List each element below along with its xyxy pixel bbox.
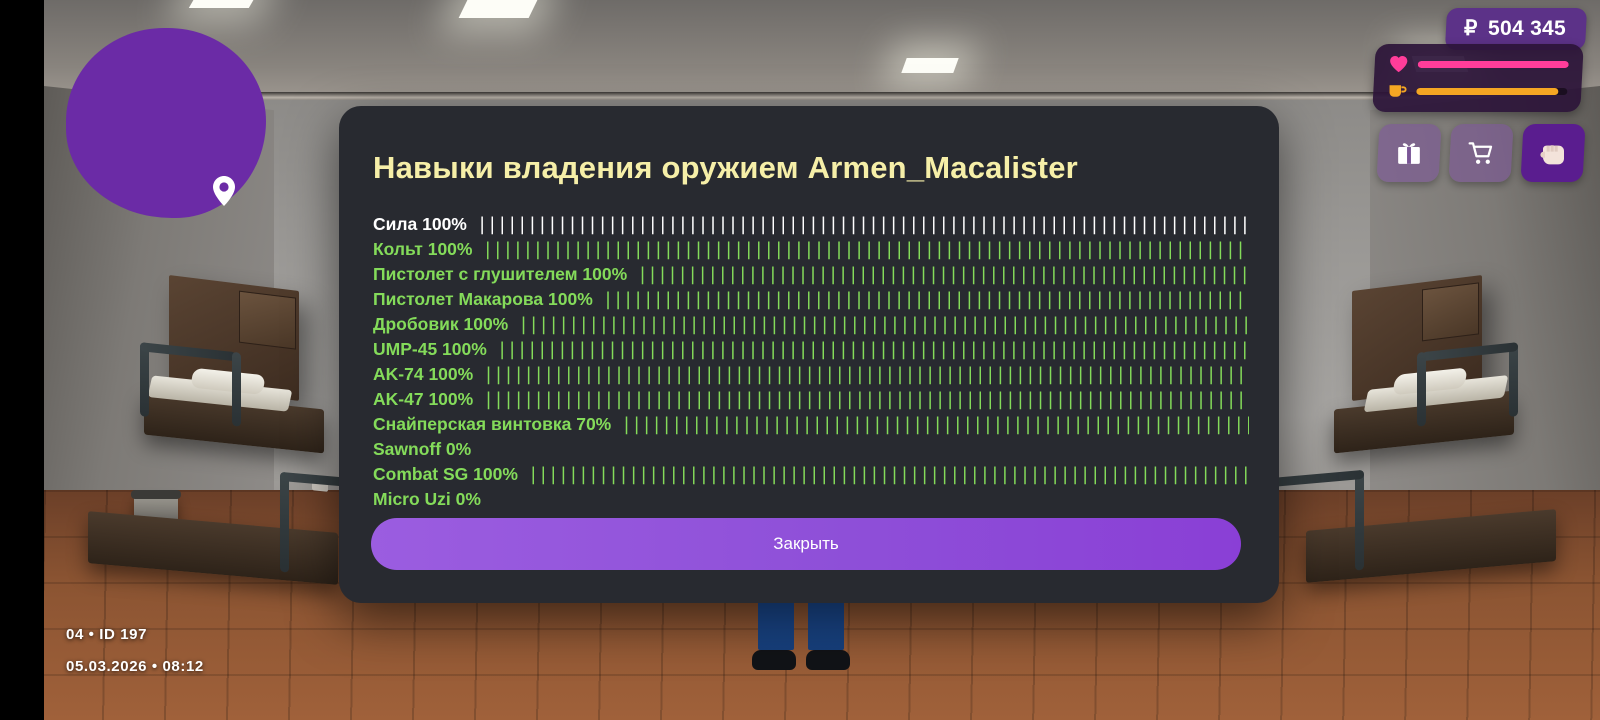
skill-bar-meter: ||||||||||||||||||||||||||||||||||||||||…	[487, 340, 1249, 360]
skill-bar-meter: ||||||||||||||||||||||||||||||||||||||||…	[611, 415, 1249, 435]
skill-percent: 100%	[424, 364, 474, 384]
skill-label: Combat SG	[373, 464, 468, 484]
fist-icon	[1537, 137, 1569, 169]
skill-bar-meter: ||||||||||||||||||||||||||||||||||||||||…	[627, 265, 1249, 285]
skill-row: Дробовик 100% ||||||||||||||||||||||||||…	[373, 312, 1249, 337]
skill-label: Sawnoff	[373, 439, 441, 459]
location-pin-icon	[212, 176, 236, 206]
skill-label: AK-47	[373, 389, 424, 409]
skill-percent: 100%	[424, 389, 474, 409]
skill-percent: 100%	[459, 314, 509, 334]
game-screen: ₽ 504 345	[0, 0, 1600, 720]
skill-percent: 100%	[468, 464, 518, 484]
dialog-title: Навыки владения оружием Armen_Macalister	[371, 150, 1249, 186]
skill-row: Сила 100% ||||||||||||||||||||||||||||||…	[373, 212, 1249, 237]
ceiling	[44, 0, 1600, 96]
skill-label: Дробовик	[373, 314, 459, 334]
heart-icon	[1389, 55, 1409, 73]
minimap[interactable]	[66, 28, 266, 218]
skill-row: UMP-45 100% ||||||||||||||||||||||||||||…	[373, 337, 1249, 362]
skill-row: Micro Uzi 0%	[373, 487, 1249, 512]
skill-row: Пистолет с глушителем 100% |||||||||||||…	[373, 262, 1249, 287]
skill-bar-meter: ||||||||||||||||||||||||||||||||||||||||…	[472, 240, 1249, 260]
skill-row: Снайперская винтовка 70% |||||||||||||||…	[373, 412, 1249, 437]
health-bar-track	[1418, 61, 1569, 68]
money-amount: 504 345	[1488, 17, 1566, 41]
gift-icon	[1396, 140, 1422, 166]
ceiling-light	[189, 0, 259, 8]
ruble-icon: ₽	[1464, 16, 1478, 41]
health-bar-row	[1389, 55, 1569, 73]
status-bars-panel	[1372, 44, 1584, 112]
skill-bar-meter: ||||||||||||||||||||||||||||||||||||||||…	[467, 215, 1249, 235]
skill-bar-meter: ||||||||||||||||||||||||||||||||||||||||…	[593, 290, 1249, 310]
hud-panel: ₽ 504 345	[1374, 8, 1586, 182]
skill-percent: 70%	[571, 414, 611, 434]
health-bar-fill	[1418, 61, 1569, 68]
hud-action-buttons	[1376, 124, 1585, 182]
skill-row: AK-47 100% |||||||||||||||||||||||||||||…	[373, 387, 1249, 412]
skill-row: Sawnoff 0%	[373, 437, 1249, 462]
skill-bar-meter: ||||||||||||||||||||||||||||||||||||||||…	[473, 390, 1249, 410]
skill-percent: 100%	[543, 289, 593, 309]
ceiling-light	[901, 58, 958, 73]
skill-row: Пистолет Макарова 100% |||||||||||||||||…	[373, 287, 1249, 312]
skill-label: Micro Uzi	[373, 489, 451, 509]
skill-percent: 100%	[578, 264, 628, 284]
skill-row: Combat SG 100% |||||||||||||||||||||||||…	[373, 462, 1249, 487]
player-info: 04 • ID 197 05.03.2026 • 08:12	[66, 619, 204, 682]
skill-row: Кольт 100% |||||||||||||||||||||||||||||…	[373, 237, 1249, 262]
cart-icon	[1468, 140, 1495, 167]
hunger-bar-row	[1387, 82, 1567, 100]
cup-icon	[1387, 82, 1407, 100]
skill-bar-meter: ||||||||||||||||||||||||||||||||||||||||…	[508, 315, 1249, 335]
skill-label: UMP-45	[373, 339, 437, 359]
gift-button[interactable]	[1376, 124, 1441, 182]
skill-label: Пистолет Макарова	[373, 289, 543, 309]
skill-label: AK-74	[373, 364, 424, 384]
skill-label: Сила	[373, 214, 417, 234]
hunger-bar-track	[1416, 88, 1567, 95]
skill-bar-meter: ||||||||||||||||||||||||||||||||||||||||…	[473, 365, 1249, 385]
ceiling-light	[459, 0, 540, 18]
skill-label: Кольт	[373, 239, 423, 259]
skill-percent: 100%	[437, 339, 487, 359]
fist-button[interactable]	[1520, 124, 1585, 182]
skill-label: Пистолет с глушителем	[373, 264, 578, 284]
skill-percent: 0%	[441, 439, 471, 459]
hunger-bar-fill	[1416, 88, 1558, 95]
close-button[interactable]: Закрыть	[371, 518, 1241, 570]
skill-bar-meter: ||||||||||||||||||||||||||||||||||||||||…	[518, 465, 1249, 485]
shop-button[interactable]	[1448, 124, 1513, 182]
skill-percent: 100%	[423, 239, 473, 259]
date-time-line: 05.03.2026 • 08:12	[66, 651, 204, 683]
skills-list: Сила 100% ||||||||||||||||||||||||||||||…	[371, 212, 1249, 512]
weapon-skills-dialog: Навыки владения оружием Armen_Macalister…	[339, 106, 1279, 603]
skill-percent: 0%	[451, 489, 481, 509]
skill-percent: 100%	[417, 214, 467, 234]
skill-label: Снайперская винтовка	[373, 414, 571, 434]
skill-row: AK-74 100% |||||||||||||||||||||||||||||…	[373, 362, 1249, 387]
player-id-line: 04 • ID 197	[66, 619, 204, 651]
letterbox-bar	[0, 0, 44, 720]
